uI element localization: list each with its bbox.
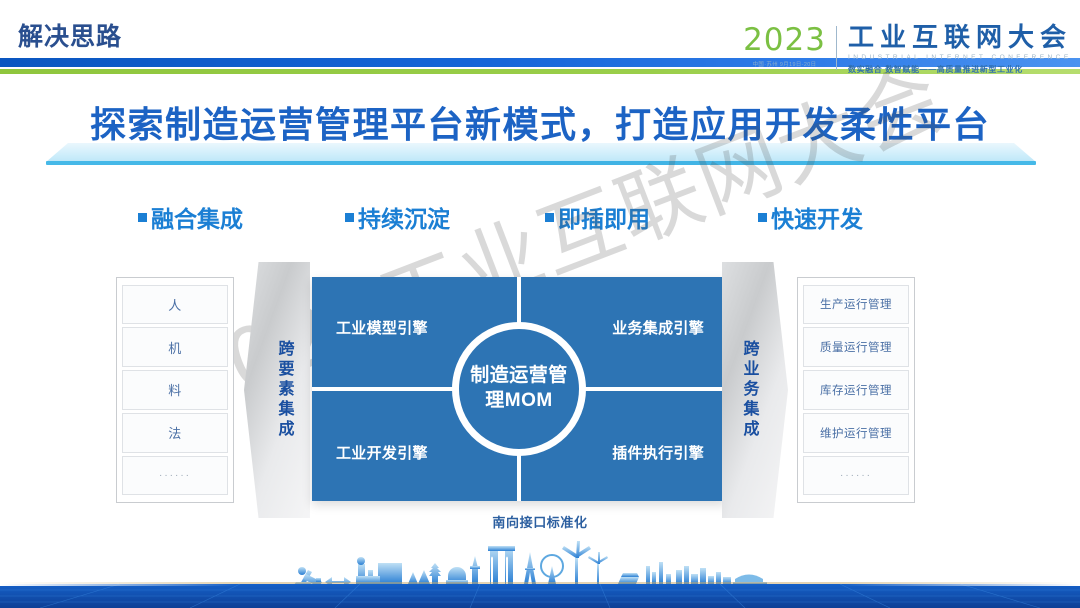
core-center-line-2: 理MOM bbox=[485, 390, 552, 411]
main-title: 探索制造运营管理平台新模式，打造应用开发柔性平台 bbox=[0, 96, 1080, 148]
right-arrow-cross-business: 跨业务集成 bbox=[722, 262, 788, 518]
logo-name-en: INDUSTRIAL INTERNET CONFERENCE bbox=[848, 54, 1072, 61]
quadrant-bottom-right-label: 插件执行引擎 bbox=[612, 442, 704, 463]
slide-root: 解决思路 2023 中国·苏州 9月19日-20日 工业互联网大会 INDUST… bbox=[0, 0, 1080, 608]
logo-name-cn: 工业互联网大会 bbox=[848, 24, 1072, 51]
section-header-0-label: 融合集成 bbox=[151, 200, 243, 234]
section-header-0: 融合集成 bbox=[138, 200, 243, 234]
core-center-label: 制造运营管 理MOM bbox=[464, 364, 574, 413]
bottom-interface-label: 南向接口标准化 bbox=[0, 512, 1080, 531]
right-arrow-label: 跨业务集成 bbox=[741, 340, 757, 440]
right-apps-panel: 生产运行管理 质量运行管理 库存运行管理 维护运行管理 ······ bbox=[797, 277, 915, 503]
left-arrow-cross-factor: 跨要素集成 bbox=[244, 262, 310, 518]
quadrant-top-left-label: 工业模型引擎 bbox=[336, 317, 428, 338]
shelf-top bbox=[46, 143, 1036, 162]
left-panel-cell-3: 法 bbox=[122, 413, 228, 453]
quadrant-top-right-label: 业务集成引擎 bbox=[612, 317, 704, 338]
square-bullet-icon bbox=[345, 213, 354, 222]
logo-year-block: 2023 中国·苏州 9月19日-20日 bbox=[743, 24, 836, 68]
section-header-2: 即插即用 bbox=[545, 200, 650, 234]
conference-logo: 2023 中国·苏州 9月19日-20日 工业互联网大会 INDUSTRIAL … bbox=[743, 24, 1072, 75]
logo-slogan: 数实融合 数智赋能——高质量推进新型工业化 bbox=[848, 64, 1072, 75]
quadrant-bottom-left-label: 工业开发引擎 bbox=[336, 442, 428, 463]
core-center-line-1: 制造运营管 bbox=[470, 365, 568, 386]
section-header-row: 融合集成 持续沉淀 即插即用 快速开发 bbox=[0, 200, 1080, 234]
section-header-3: 快速开发 bbox=[758, 200, 863, 234]
right-panel-cell-2: 库存运行管理 bbox=[803, 370, 909, 410]
shelf-edge bbox=[46, 161, 1036, 165]
right-panel-cell-1: 质量运行管理 bbox=[803, 327, 909, 367]
skyline-svg bbox=[0, 530, 1080, 608]
left-panel-cell-1: 机 bbox=[122, 327, 228, 367]
square-bullet-icon bbox=[758, 213, 767, 222]
right-panel-cell-4: ······ bbox=[803, 456, 909, 496]
left-panel-cell-0: 人 bbox=[122, 285, 228, 325]
section-header-1: 持续沉淀 bbox=[345, 200, 450, 234]
square-bullet-icon bbox=[545, 213, 554, 222]
logo-divider bbox=[836, 26, 837, 70]
left-arrow-label: 跨要素集成 bbox=[276, 340, 292, 440]
left-panel-cell-4: ······ bbox=[122, 456, 228, 496]
page-title: 解决思路 bbox=[18, 17, 122, 53]
section-header-2-label: 即插即用 bbox=[558, 200, 650, 234]
logo-year: 2023 bbox=[743, 24, 826, 57]
left-panel-cell-2: 料 bbox=[122, 370, 228, 410]
logo-year-sub: 中国·苏州 9月19日-20日 bbox=[743, 60, 826, 68]
section-header-1-label: 持续沉淀 bbox=[358, 200, 450, 234]
square-bullet-icon bbox=[138, 213, 147, 222]
logo-main-block: 工业互联网大会 INDUSTRIAL INTERNET CONFERENCE 数… bbox=[848, 24, 1072, 75]
right-panel-cell-3: 维护运行管理 bbox=[803, 413, 909, 453]
core-mom-block: 工业模型引擎 业务集成引擎 工业开发引擎 插件执行引擎 制造运营管 理MOM bbox=[312, 277, 726, 501]
footer-skyline-graphic bbox=[0, 530, 1080, 608]
left-factor-panel: 人 机 料 法 ······ bbox=[116, 277, 234, 503]
title-shelf-graphic bbox=[46, 143, 1036, 167]
right-panel-cell-0: 生产运行管理 bbox=[803, 285, 909, 325]
core-center-circle: 制造运营管 理MOM bbox=[452, 322, 586, 456]
section-header-3-label: 快速开发 bbox=[771, 200, 863, 234]
